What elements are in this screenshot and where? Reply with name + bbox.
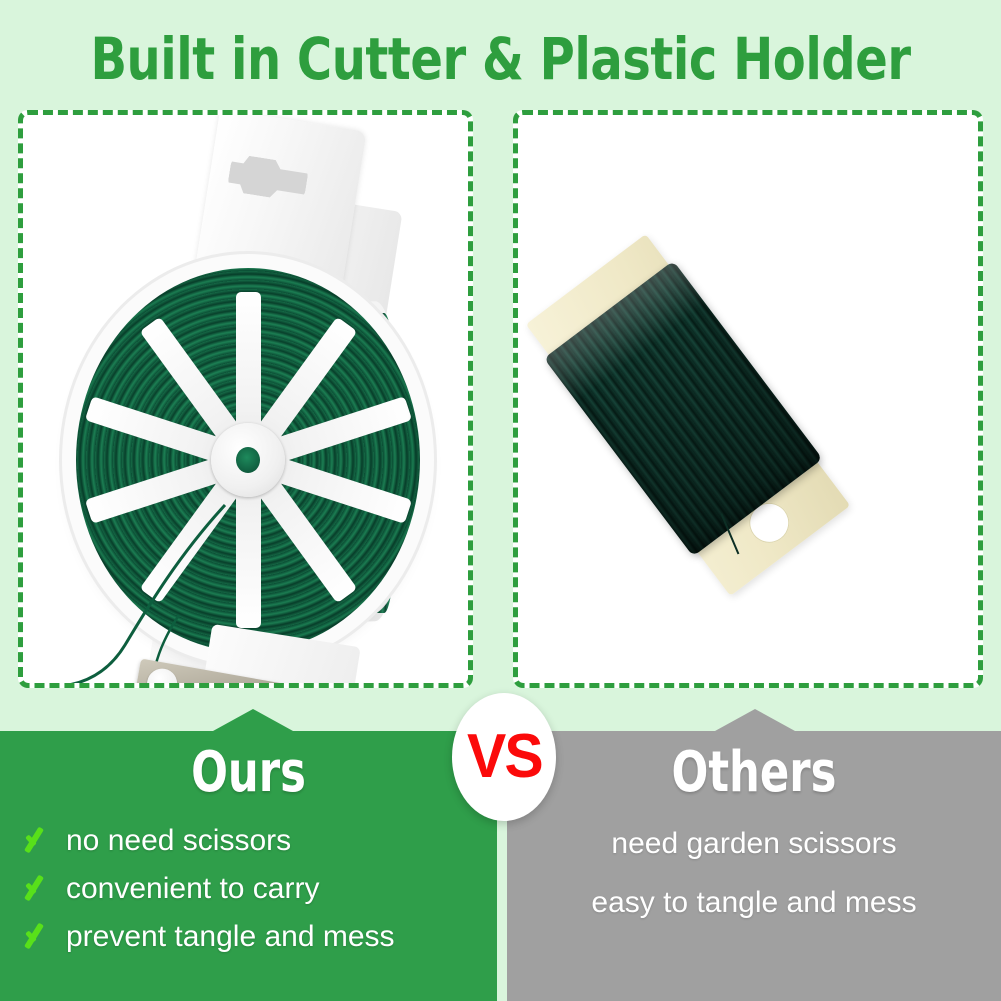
ours-heading: Ours bbox=[35, 745, 462, 801]
check-icon bbox=[22, 823, 56, 857]
ours-feature-item: convenient to carry bbox=[22, 871, 487, 905]
others-heading: Others bbox=[542, 745, 967, 801]
others-product-card bbox=[513, 110, 983, 688]
ours-product-photo bbox=[23, 115, 468, 683]
vs-label: VS bbox=[467, 726, 542, 788]
others-feature-item: need garden scissors bbox=[507, 827, 1001, 860]
others-feature-list: need garden scissorseasy to tangle and m… bbox=[507, 827, 1001, 945]
spool-wheel bbox=[73, 265, 423, 655]
check-icon bbox=[22, 919, 56, 953]
vs-badge: VS bbox=[452, 693, 556, 821]
others-comparison-panel: Others need garden scissorseasy to tangl… bbox=[507, 731, 1001, 1001]
spool-hub bbox=[211, 423, 285, 497]
ours-comparison-panel: Ours no need scissorsconvenient to carry… bbox=[0, 731, 497, 1001]
wire-paddle bbox=[526, 234, 850, 596]
check-icon bbox=[22, 871, 56, 905]
others-product-photo bbox=[518, 115, 978, 683]
cutter-rivet bbox=[145, 666, 180, 688]
ours-feature-item: prevent tangle and mess bbox=[22, 919, 487, 953]
ours-feature-label: prevent tangle and mess bbox=[66, 920, 395, 953]
ours-feature-list: no need scissorsconvenient to carrypreve… bbox=[22, 823, 487, 967]
page-title: Built in Cutter & Plastic Holder bbox=[40, 30, 961, 88]
ours-panel-notch bbox=[213, 709, 293, 731]
others-panel-notch bbox=[715, 709, 795, 731]
infographic-stage: Built in Cutter & Plastic Holder bbox=[0, 0, 1001, 1001]
ours-product-card bbox=[18, 110, 473, 688]
ours-feature-label: no need scissors bbox=[66, 824, 291, 857]
ours-feature-label: convenient to carry bbox=[66, 872, 319, 905]
ours-feature-item: no need scissors bbox=[22, 823, 487, 857]
others-feature-item: easy to tangle and mess bbox=[507, 886, 1001, 919]
